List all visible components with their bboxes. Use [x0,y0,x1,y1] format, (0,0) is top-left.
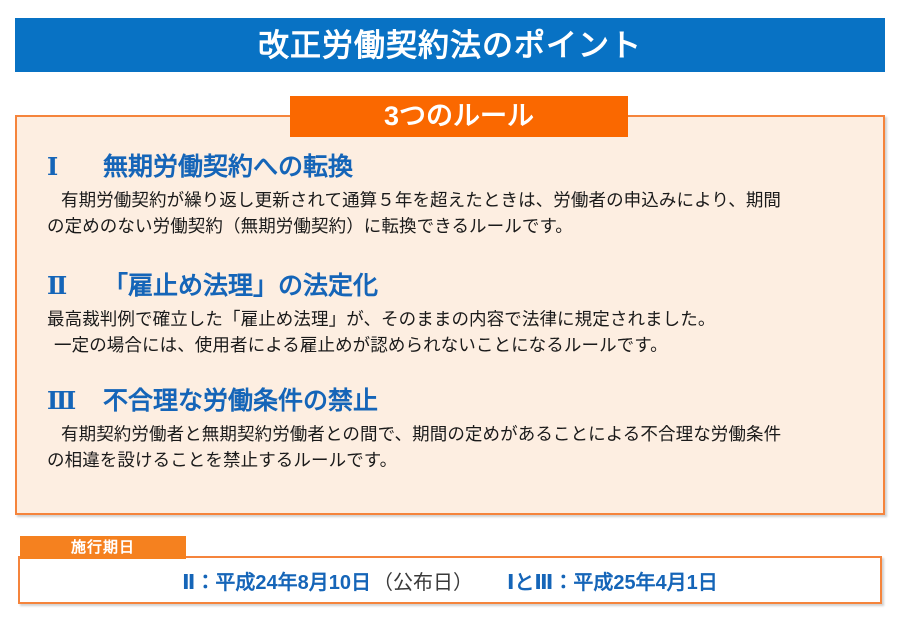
rule-body-3: 有期契約労働者と無期契約労働者との間で、期間の定めがあることによる不合理な労働条… [47,421,887,474]
rule-block-1: Ⅰ 無期労働契約への転換 有期労働契約が繰り返し更新されて通算５年を超えたときは… [47,153,887,239]
rule-body-1: 有期労働契約が繰り返し更新されて通算５年を超えたときは、労働者の申込みにより、期… [47,187,887,240]
rule-body-line: の相違を設けることを禁止するルールです。 [47,447,887,473]
enforcement-date-tab: 施行期日 [20,536,186,559]
enforcement-date-content: Ⅱ：平成24年8月10日（公布日）ⅠとⅢ：平成25年4月1日 [20,558,880,602]
rule-block-2: Ⅱ 「雇止め法理」の法定化 最高裁判例で確立した「雇止め法理」が、そのままの内容… [47,272,887,358]
enforcement-date-1-note: （公布日） [373,566,473,595]
rule-body-2: 最高裁判例で確立した「雇止め法理」が、そのままの内容で法律に規定されました。 一… [47,306,887,359]
rule-heading-2: Ⅱ 「雇止め法理」の法定化 [47,272,887,302]
enforcement-date-box: Ⅱ：平成24年8月10日（公布日）ⅠとⅢ：平成25年4月1日 [18,556,882,604]
rule-heading-3: Ⅲ 不合理な労働条件の禁止 [47,387,887,417]
rule-numeral-3: Ⅲ [47,389,103,417]
rule-heading-1: Ⅰ 無期労働契約への転換 [47,153,887,183]
enforcement-date-tab-label: 施行期日 [71,540,135,555]
rule-body-line: 一定の場合には、使用者による雇止めが認められないことになるルールです。 [47,332,887,358]
rule-block-3: Ⅲ 不合理な労働条件の禁止 有期契約労働者と無期契約労働者との間で、期間の定めが… [47,387,887,473]
rule-body-line: 有期契約労働者と無期契約労働者との間で、期間の定めがあることによる不合理な労働条… [47,421,887,447]
rules-count-label: 3つのルール [384,103,534,130]
enforcement-date-1: Ⅱ：平成24年8月10日 [182,566,371,595]
page-title-banner: 改正労働契約法のポイント [15,18,885,72]
rule-numeral-2: Ⅱ [47,274,103,302]
page-title: 改正労働契約法のポイント [258,30,642,61]
rules-count-tab: 3つのルール [290,96,628,137]
rules-panel: Ⅰ 無期労働契約への転換 有期労働契約が繰り返し更新されて通算５年を超えたときは… [15,115,885,515]
rule-body-line: の定めのない労働契約（無期労働契約）に転換できるルールです。 [47,213,887,239]
rule-title-1: 無期労働契約への転換 [103,153,353,182]
rule-title-2: 「雇止め法理」の法定化 [103,272,378,301]
rule-numeral-1: Ⅰ [47,155,103,183]
rule-body-line: 有期労働契約が繰り返し更新されて通算５年を超えたときは、労働者の申込みにより、期… [47,187,887,213]
enforcement-date-2: ⅠとⅢ：平成25年4月1日 [507,566,718,595]
rule-title-3: 不合理な労働条件の禁止 [103,387,378,416]
rule-body-line: 最高裁判例で確立した「雇止め法理」が、そのままの内容で法律に規定されました。 [47,306,887,332]
